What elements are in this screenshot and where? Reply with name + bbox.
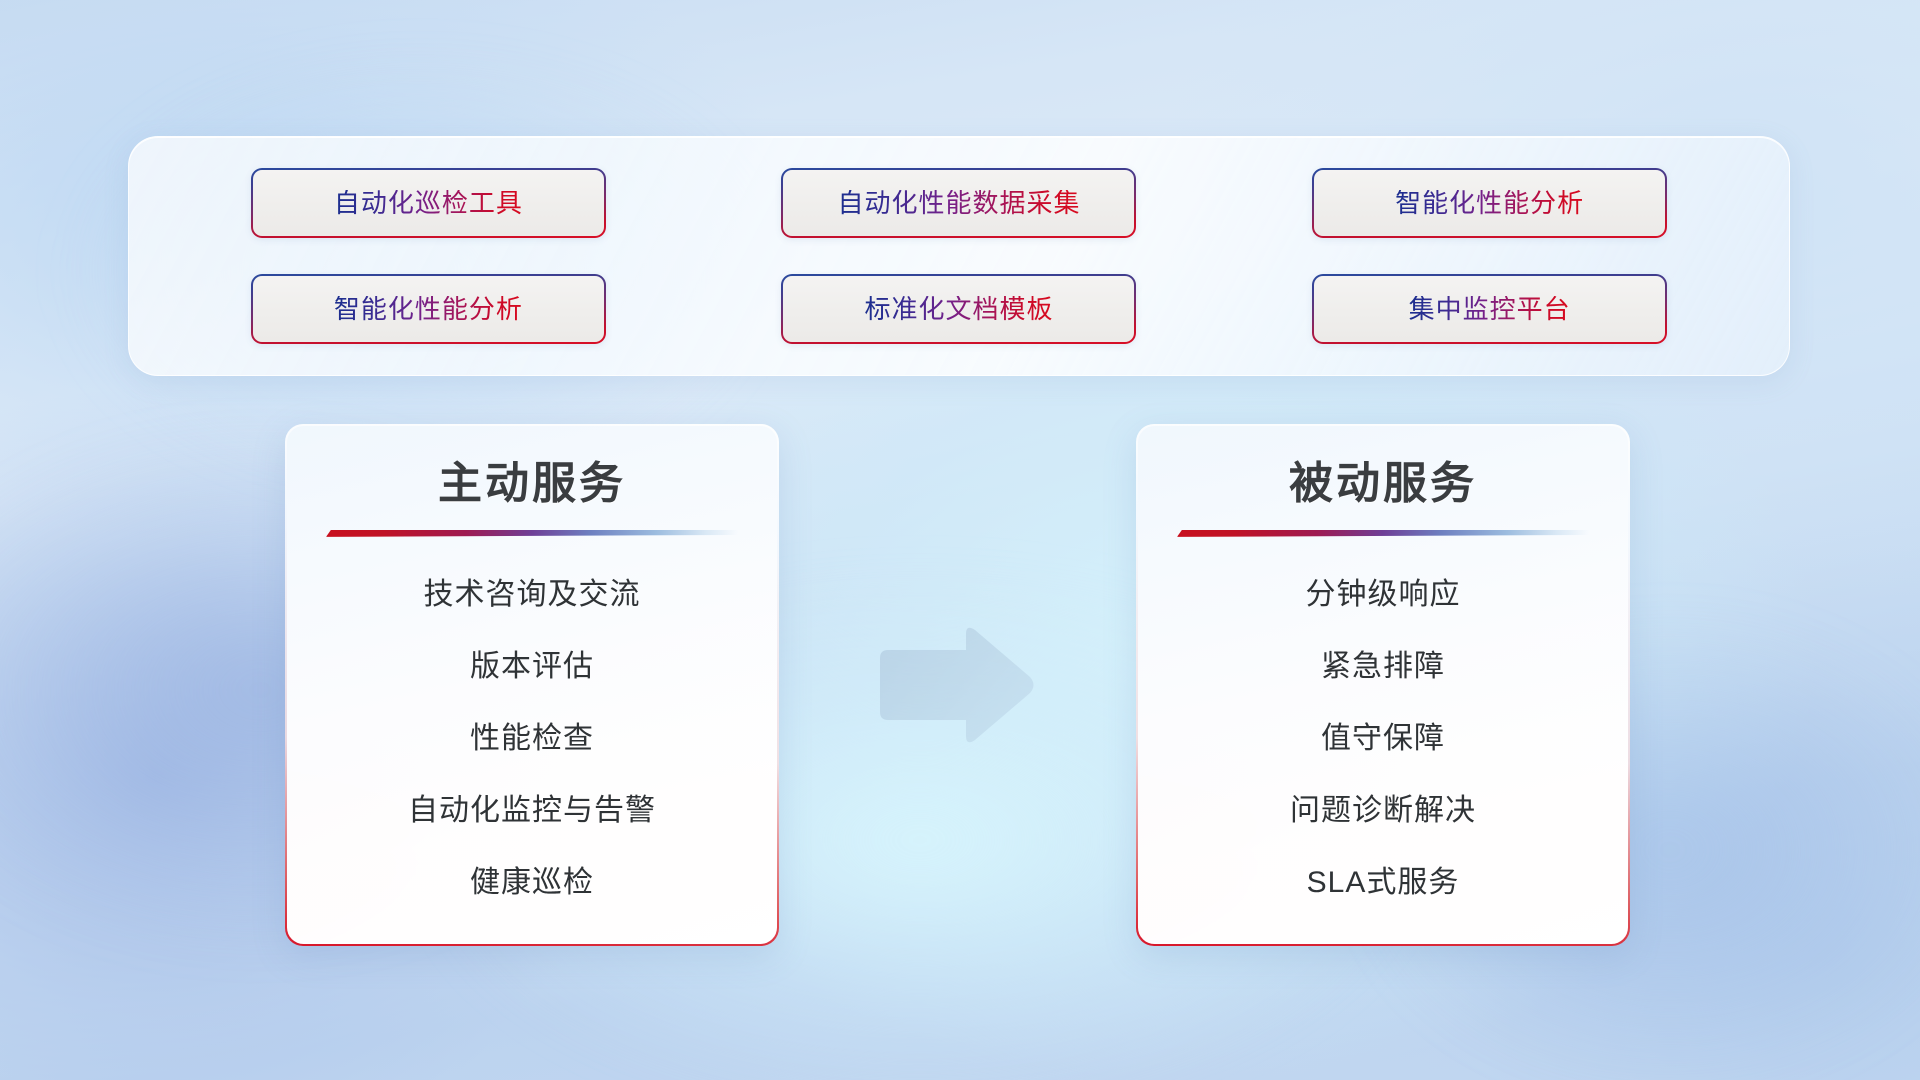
capability-chip-5-body: 标准化文档模板 bbox=[783, 276, 1134, 342]
service-card-reactive-body: 被动服务 分钟级响应 紧急排障 值守保障 问题诊断解决 SLA式服务 bbox=[1138, 426, 1629, 945]
capability-chip-1-label: 自动化巡检工具 bbox=[334, 190, 523, 216]
service-card-reactive[interactable]: 被动服务 分钟级响应 紧急排障 值守保障 问题诊断解决 SLA式服务 bbox=[1136, 424, 1630, 946]
service-card-reactive-title: 被动服务 bbox=[1289, 456, 1477, 512]
service-card-proactive-body: 主动服务 技术咨询及交流 版本评估 性能检查 自动化监控与告警 健康巡检 bbox=[287, 426, 778, 945]
capability-chip-2[interactable]: 自动化性能数据采集 bbox=[781, 168, 1136, 238]
capability-chip-3[interactable]: 智能化性能分析 bbox=[1312, 168, 1667, 238]
list-item: 值守保障 bbox=[1321, 703, 1445, 775]
service-card-proactive-divider bbox=[326, 530, 738, 537]
capability-panel: 自动化巡检工具 自动化性能数据采集 智能化性能分析 智能化性能分析 标准化文档模… bbox=[128, 136, 1790, 376]
capability-chip-4[interactable]: 智能化性能分析 bbox=[251, 274, 606, 344]
service-card-proactive-list: 技术咨询及交流 版本评估 性能检查 自动化监控与告警 健康巡检 bbox=[287, 559, 778, 919]
list-item: 健康巡检 bbox=[470, 847, 594, 919]
capability-chip-3-label: 智能化性能分析 bbox=[1395, 190, 1584, 216]
service-card-reactive-divider bbox=[1177, 530, 1589, 537]
service-card-proactive-title: 主动服务 bbox=[438, 456, 626, 512]
service-card-proactive[interactable]: 主动服务 技术咨询及交流 版本评估 性能检查 自动化监控与告警 健康巡检 bbox=[285, 424, 779, 946]
right-arrow-icon bbox=[874, 624, 1036, 746]
capability-chip-5-label: 标准化文档模板 bbox=[864, 296, 1053, 322]
capability-chip-1[interactable]: 自动化巡检工具 bbox=[251, 168, 606, 238]
list-item: SLA式服务 bbox=[1307, 847, 1460, 919]
capability-chip-2-body: 自动化性能数据采集 bbox=[783, 170, 1134, 236]
list-item: 问题诊断解决 bbox=[1290, 775, 1476, 847]
capability-chip-6[interactable]: 集中监控平台 bbox=[1312, 274, 1667, 344]
list-item: 分钟级响应 bbox=[1306, 559, 1461, 631]
list-item: 技术咨询及交流 bbox=[424, 559, 641, 631]
list-item: 性能检查 bbox=[470, 703, 594, 775]
capability-chip-4-label: 智能化性能分析 bbox=[334, 296, 523, 322]
capability-chip-6-body: 集中监控平台 bbox=[1314, 276, 1665, 342]
service-card-reactive-list: 分钟级响应 紧急排障 值守保障 问题诊断解决 SLA式服务 bbox=[1138, 559, 1629, 919]
capability-chip-4-body: 智能化性能分析 bbox=[253, 276, 604, 342]
list-item: 紧急排障 bbox=[1321, 631, 1445, 703]
capability-chip-5[interactable]: 标准化文档模板 bbox=[781, 274, 1136, 344]
capability-chip-3-body: 智能化性能分析 bbox=[1314, 170, 1665, 236]
list-item: 自动化监控与告警 bbox=[408, 775, 656, 847]
capability-chip-6-label: 集中监控平台 bbox=[1409, 296, 1571, 322]
capability-chip-2-label: 自动化性能数据采集 bbox=[837, 190, 1080, 216]
list-item: 版本评估 bbox=[470, 631, 594, 703]
capability-chip-1-body: 自动化巡检工具 bbox=[253, 170, 604, 236]
